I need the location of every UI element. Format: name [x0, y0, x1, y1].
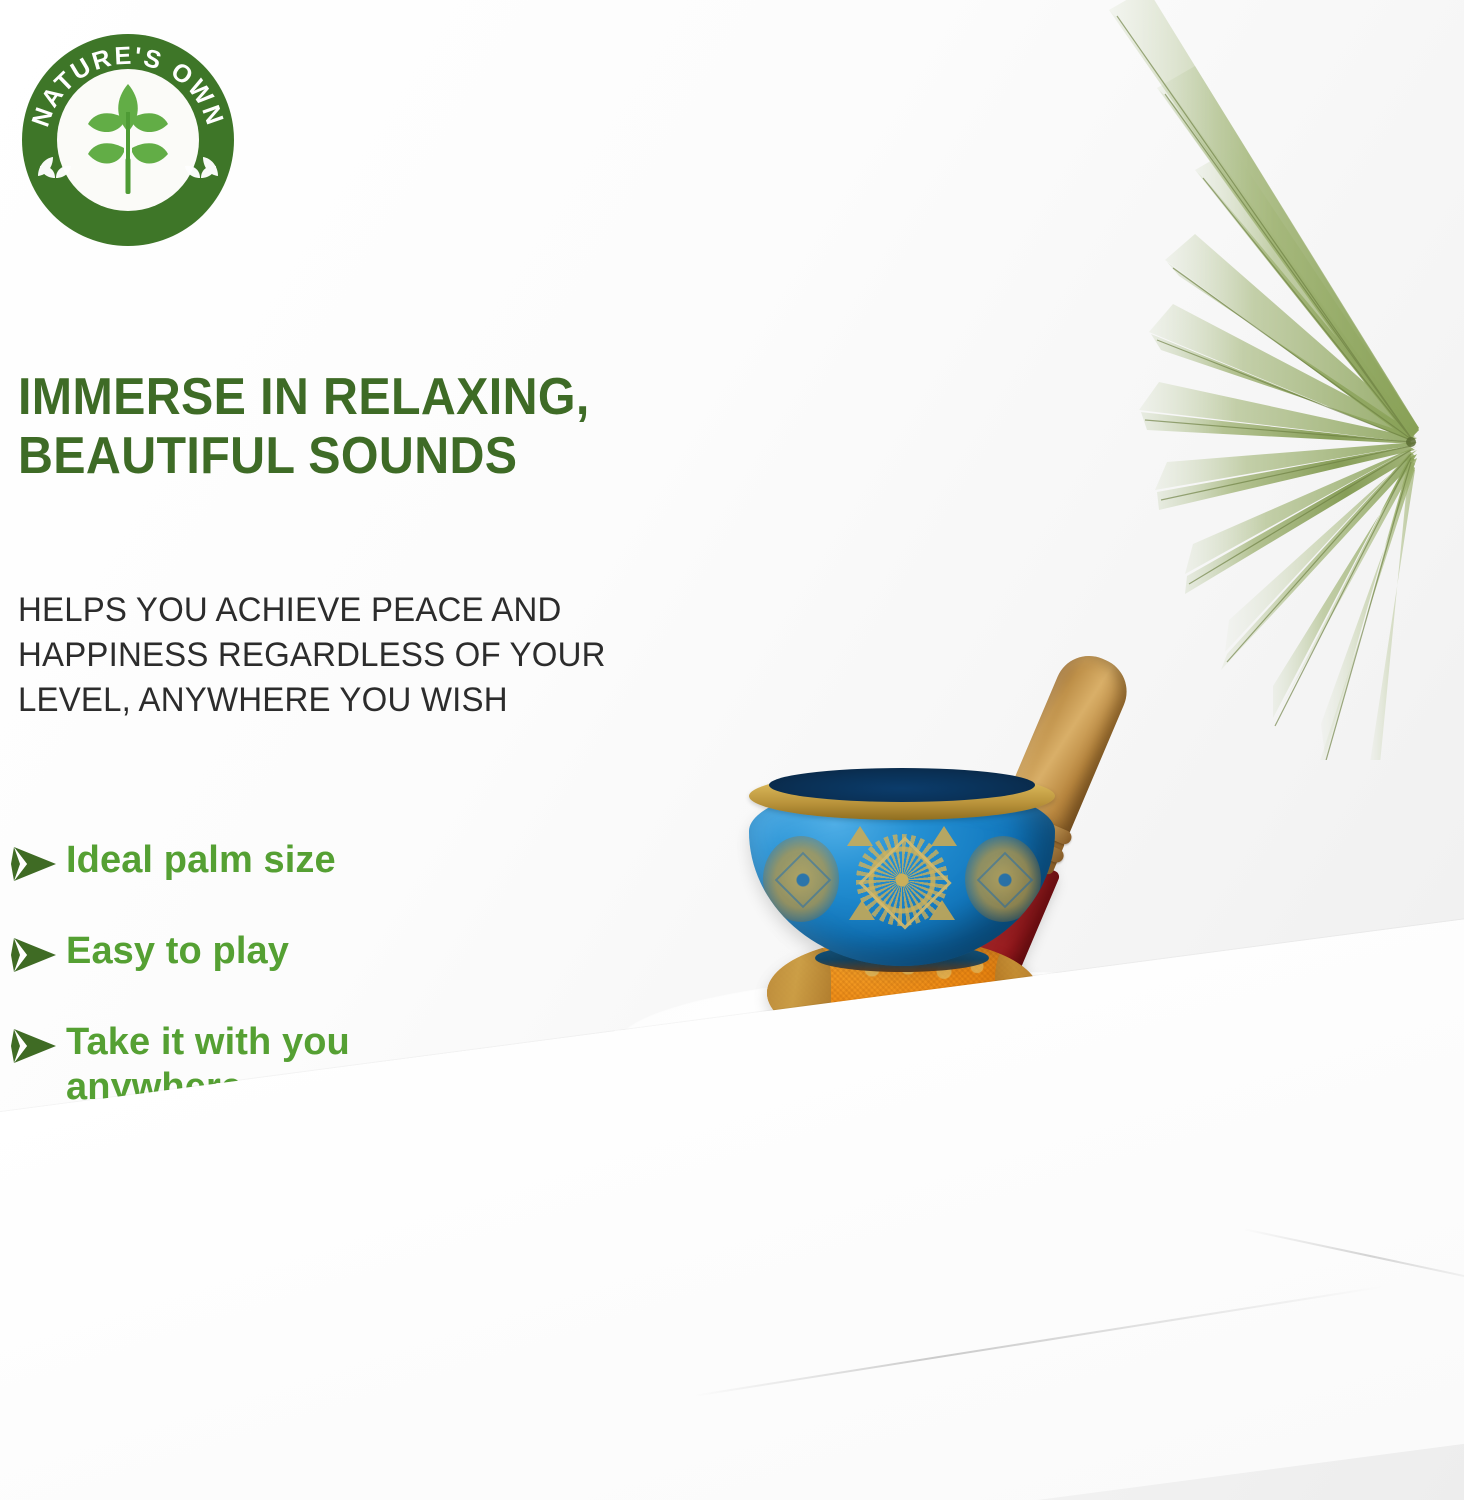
bowl-engraving-triangle — [931, 826, 957, 846]
feature-item-label: Easy to play — [66, 929, 289, 974]
brand-logo: NATURE'S OWN — [14, 26, 242, 254]
headline-line-2: BEAUTIFUL SOUNDS — [18, 427, 762, 486]
bowl-interior — [769, 768, 1035, 802]
bowl-engraving-triangle — [849, 900, 875, 920]
feature-item-ideal-palm-size: Ideal palm size — [10, 838, 550, 889]
subheadline-line-3: LEVEL, ANYWHERE YOU WISH — [18, 678, 755, 723]
subheadline-line-1: HELPS YOU ACHIEVE PEACE AND — [18, 588, 755, 633]
bowl-engraving-triangle — [847, 826, 873, 846]
chevron-arrow-icon — [10, 838, 66, 889]
subheadline-line-2: HAPPINESS REGARDLESS OF YOUR — [18, 633, 755, 678]
feature-item-easy-to-play: Easy to play — [10, 929, 550, 980]
headline-line-1: IMMERSE IN RELAXING, — [18, 368, 762, 427]
bowl-engraving-right — [965, 836, 1041, 922]
bowl-engraving-triangle — [929, 900, 955, 920]
bowl-engraving-left — [763, 836, 839, 922]
page-headline: IMMERSE IN RELAXING, BEAUTIFUL SOUNDS — [18, 368, 762, 486]
product-feature-banner: NATURE'S OWN IMMERSE IN RELAXING, BEAUTI… — [0, 0, 1464, 1500]
chevron-arrow-icon — [10, 1020, 66, 1071]
page-subheadline: HELPS YOU ACHIEVE PEACE AND HAPPINESS RE… — [18, 588, 755, 724]
chevron-arrow-icon — [10, 929, 66, 980]
feature-item-label: Ideal palm size — [66, 838, 336, 883]
